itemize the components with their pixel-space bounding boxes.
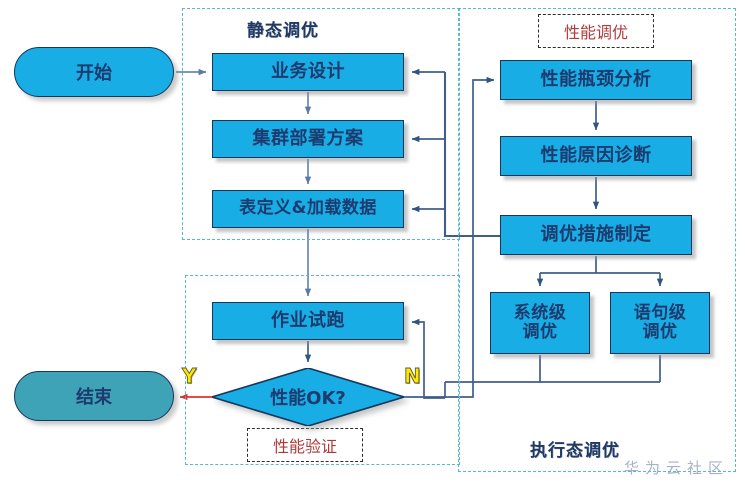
node-business-design[interactable]: 业务设计 [212,53,404,91]
node-end[interactable]: 结束 [14,371,174,421]
annotation-performance-tuning: 性能调优 [538,14,654,48]
branch-label-no: N [404,364,421,388]
node-start[interactable]: 开始 [14,47,174,97]
group-title-runtime: 执行态调优 [530,436,620,461]
node-tuning-measures-formulation[interactable]: 调优措施制定 [500,215,692,255]
node-cluster-deployment-plan[interactable]: 集群部署方案 [212,120,404,158]
node-performance-bottleneck-analysis[interactable]: 性能瓶颈分析 [500,60,692,100]
node-statement-level-tuning[interactable]: 语句级 调优 [610,292,710,354]
node-job-trial-run[interactable]: 作业试跑 [212,302,404,340]
watermark-text: 华为云社区 [624,457,729,478]
node-performance-cause-diagnosis[interactable]: 性能原因诊断 [500,136,692,176]
node-system-level-tuning[interactable]: 系统级 调优 [490,292,590,354]
flowchart-canvas: 静态调优 执行态调优 性能调优 性能验证 开始 结束 业务设计 集群部署方案 表… [0,0,745,493]
node-performance-ok-decision[interactable]: 性能OK? [212,368,404,426]
node-table-definition-and-data-load[interactable]: 表定义&加载数据 [212,190,404,228]
branch-label-yes: Y [182,364,196,388]
decision-label: 性能OK? [212,368,404,426]
annotation-performance-verification: 性能验证 [247,428,363,462]
group-title-static: 静态调优 [247,16,319,41]
